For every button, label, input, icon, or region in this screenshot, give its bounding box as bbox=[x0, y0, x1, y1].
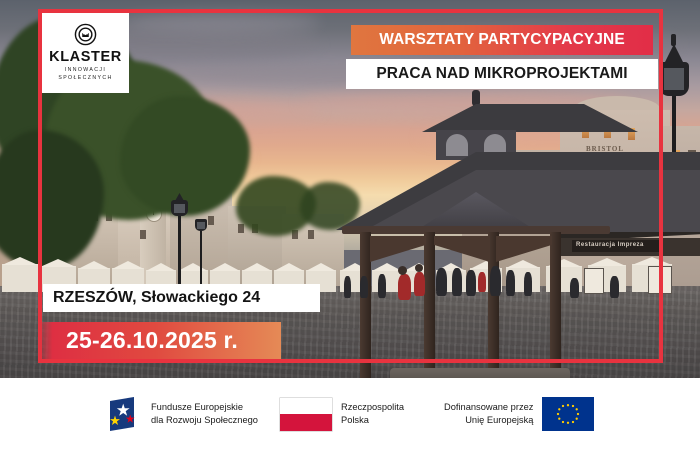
logo-subtitle-line2: SPOŁECZNYCH bbox=[58, 75, 112, 83]
republic-line1: Rzeczpospolita bbox=[341, 401, 404, 414]
footer-eu-funds: Fundusze Europejskie dla Rozwoju Społecz… bbox=[104, 378, 258, 450]
eu-cofunding-label: Dofinansowane przez Unię Europejską bbox=[444, 401, 533, 428]
title-banner-primary: WARSZTATY PARTYCYPACYJNE bbox=[351, 25, 653, 55]
republic-label: Rzeczpospolita Polska bbox=[341, 401, 404, 428]
poland-flag-icon bbox=[280, 398, 332, 431]
event-poster: BRISTOL Restauracja Impreza bbox=[0, 0, 700, 450]
footer-republic-poland: Rzeczpospolita Polska bbox=[280, 378, 404, 450]
title-banner-secondary: PRACA NAD MIKROPROJEKTAMI bbox=[346, 59, 658, 89]
street-lamp-glass bbox=[664, 68, 684, 90]
title-primary-text: WARSZTATY PARTYCYPACYJNE bbox=[379, 31, 625, 49]
location-banner: RZESZÓW, Słowackiego 24 bbox=[43, 284, 320, 312]
flag-white-stripe bbox=[280, 398, 332, 415]
republic-line2: Polska bbox=[341, 414, 404, 427]
eu-cofunding-line1: Dofinansowane przez bbox=[444, 401, 533, 414]
eu-funds-line2: dla Rozwoju Społecznego bbox=[151, 414, 258, 427]
footer-logos-bar: Fundusze Europejskie dla Rozwoju Społecz… bbox=[0, 378, 700, 450]
street-lamp-finial bbox=[671, 34, 676, 46]
european-union-flag-icon bbox=[542, 397, 594, 431]
title-secondary-text: PRACA NAD MIKROPROJEKTAMI bbox=[376, 65, 627, 83]
eu-funds-label: Fundusze Europejskie dla Rozwoju Społecz… bbox=[151, 401, 258, 428]
klaster-logo: KLASTER INNOWACJI SPOŁECZNYCH bbox=[42, 13, 129, 93]
date-text: 25-26.10.2025 r. bbox=[66, 327, 238, 354]
eu-cofunding-line2: Unię Europejską bbox=[444, 414, 533, 427]
umbrella bbox=[2, 264, 38, 292]
logo-subtitle-line1: INNOWACJI bbox=[65, 67, 107, 75]
footer-eu-cofunding: Dofinansowane przez Unię Europejską bbox=[444, 378, 594, 450]
flag-red-stripe bbox=[280, 414, 332, 431]
date-banner: 25-26.10.2025 r. bbox=[38, 322, 281, 359]
logo-wordmark: KLASTER bbox=[49, 50, 122, 65]
target-bull-icon bbox=[74, 23, 97, 46]
gazebo-base bbox=[390, 368, 570, 378]
location-text: RZESZÓW, Słowackiego 24 bbox=[53, 289, 260, 307]
eu-funds-line1: Fundusze Europejskie bbox=[151, 401, 258, 414]
eu-funds-star-icon bbox=[104, 397, 142, 431]
